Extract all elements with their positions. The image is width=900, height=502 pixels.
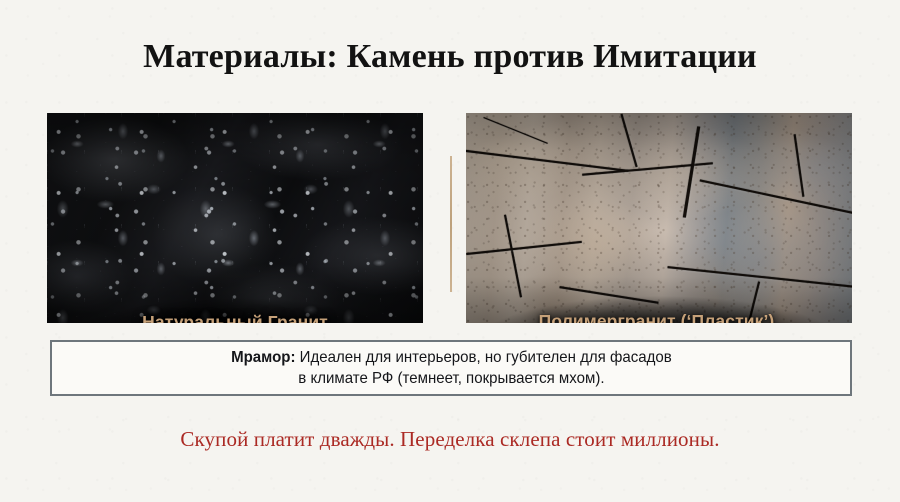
material-panel-natural-granite[interactable]: Натуральный Гранит (Габбро-Диабаз). Водо… bbox=[47, 113, 423, 323]
marble-note-text: Мрамор: Идеален для интерьеров, но губит… bbox=[231, 347, 672, 389]
granite-vignette bbox=[47, 113, 423, 323]
page-title: Материалы: Камень против Имитации bbox=[0, 38, 900, 76]
left-caption-heading: Натуральный Гранит bbox=[47, 310, 423, 323]
marble-note-label: Мрамор: bbox=[231, 349, 295, 366]
marble-note-box: Мрамор: Идеален для интерьеров, но губит… bbox=[50, 340, 852, 396]
left-panel-caption: Натуральный Гранит (Габбро-Диабаз). Водо… bbox=[47, 310, 423, 323]
slide-root: Материалы: Камень против Имитации Натура… bbox=[0, 0, 900, 502]
footer-tagline: Скупой платит дважды. Переделка склепа с… bbox=[0, 427, 900, 452]
marble-note-line-2: в климате РФ (темнеет, покрывается мхом)… bbox=[231, 368, 672, 389]
right-panel-caption: Полимергранит (‘Пластик’). Выгорает, тре… bbox=[466, 309, 852, 323]
marble-note-line-1: Идеален для интерьеров, но губителен для… bbox=[295, 349, 671, 366]
material-panel-polymer-granite[interactable]: Полимергранит (‘Пластик’). Выгорает, тре… bbox=[466, 113, 852, 323]
polymer-vignette bbox=[466, 113, 852, 323]
panel-divider bbox=[450, 156, 452, 292]
right-caption-heading: Полимергранит (‘Пластик’). bbox=[466, 309, 852, 323]
